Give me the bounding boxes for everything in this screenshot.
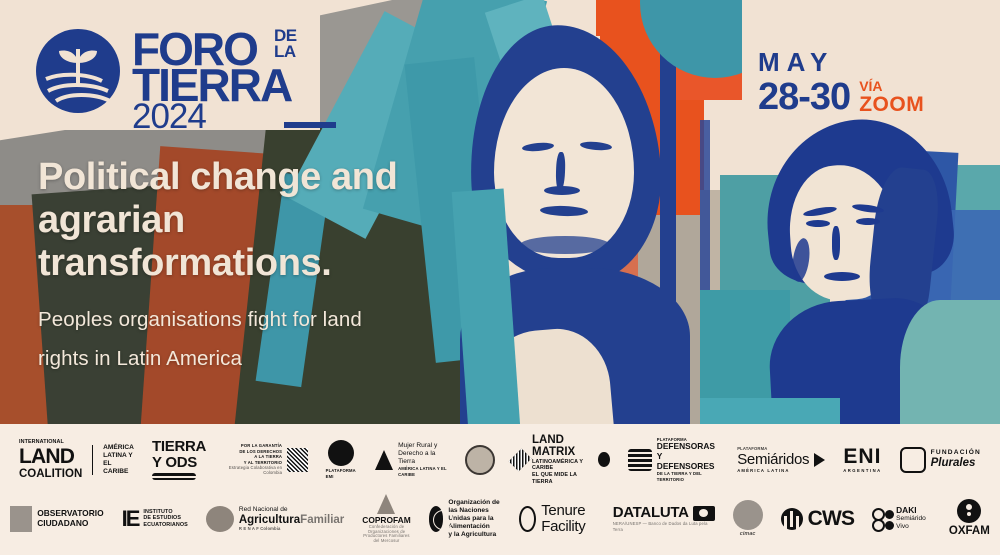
- brasil-flag-icon: [693, 506, 715, 521]
- eni-line-2: ARGENTINA: [843, 468, 881, 473]
- event-month: MAY: [758, 48, 988, 76]
- poster-subheadline: Peoples organisations fight for land rig…: [38, 300, 468, 378]
- event-poster: FORO DE LA TIERRA 2024 MAY 28-30 VÍA ZOO…: [0, 0, 1000, 555]
- mujer-rural-line-2: Derecho a la Tierra: [398, 450, 447, 466]
- network-dot-icon: [598, 452, 610, 467]
- subheadline-line-2: rights in Latin America: [38, 339, 468, 378]
- plataforma-emi-label: PLATAFORMA EMI: [326, 468, 357, 479]
- ilc-line-2: LAND: [19, 446, 82, 468]
- iee-line-1: INSTITUTO: [143, 509, 187, 516]
- logo-instituto-estudios-ecuatorianos[interactable]: IE INSTITUTO DE ESTUDIOS ECUATORIANOS: [113, 493, 197, 545]
- event-date-block: MAY 28-30 VÍA ZOOM: [758, 48, 988, 116]
- defensoras-line-4: DE LA TIERRA Y DEL TERRITORIO: [657, 471, 719, 482]
- logo-land-matrix[interactable]: LAND MATRIX LATINOAMÉRICA Y CARIBE EL QU…: [504, 434, 619, 486]
- logo-cws[interactable]: CWS: [772, 493, 864, 545]
- logo-renaf[interactable]: Red Nacional de AgriculturaFamiliar R E …: [197, 493, 353, 545]
- portrait-right-mouth: [824, 272, 860, 281]
- family-figures-icon: [206, 506, 234, 532]
- iee-line-2: DE ESTUDIOS: [143, 515, 187, 522]
- land-matrix-line-2: LATINOAMÉRICA Y CARIBE: [532, 459, 593, 472]
- partner-logo-row-2: OBSERVATORIO CIUDADANO IE INSTITUTO DE E…: [10, 489, 990, 548]
- renaf-agricultura: Agricultura: [239, 514, 300, 526]
- tenure-facility-label: Tenure Facility: [541, 503, 595, 535]
- globe-circle-icon: [328, 440, 354, 466]
- mask-glyph-icon: [10, 506, 32, 532]
- fao-line-2: Unidas para la Alimentación: [448, 515, 501, 531]
- logo-plataforma-emi[interactable]: PLATAFORMA EMI: [317, 434, 366, 486]
- fao-line-3: y la Agricultura: [448, 531, 501, 539]
- observatorio-line-2: CIUDADANO: [37, 519, 103, 529]
- fao-line-1: Organización de las Naciones: [448, 499, 501, 515]
- defensoras-line-2: DEFENSORAS: [657, 442, 719, 452]
- leaf-icon: [377, 494, 395, 514]
- figure-icon: [375, 450, 393, 470]
- event-via-label: VÍA: [859, 79, 924, 94]
- cimac-seal-icon: [733, 500, 763, 530]
- logo-oxfam[interactable]: OXFAM: [940, 493, 999, 545]
- logo-mujer-rural[interactable]: Mujer Rural y Derecho a la Tierra AMÉRIC…: [366, 434, 456, 486]
- circular-seal-icon: [465, 445, 495, 475]
- tierra-ods-line-2: Y ODS: [152, 455, 197, 471]
- subheadline-line-1: Peoples organisations fight for land: [38, 300, 468, 339]
- logo-daki[interactable]: DAKI Semiárido Vivo: [863, 493, 940, 545]
- coprofam-line-2: Confederación de Organizaciones de Produ…: [362, 525, 410, 543]
- mujer-rural-line-3: AMÉRICA LATINA Y EL CARIBE: [398, 466, 447, 477]
- logo-por-la-garantia[interactable]: POR LA GARANTÍA DE LOS DERECHOS A LA TIE…: [215, 434, 317, 486]
- daki-rings-icon: [872, 508, 891, 530]
- logo-plataforma-defensoras[interactable]: PLATAFORMA DEFENSORAS Y DEFENSORES DE LA…: [619, 434, 728, 486]
- plurales-line-1: FUNDACIÓN: [931, 449, 981, 457]
- renaf-line-2: AgriculturaFamiliar: [239, 514, 344, 527]
- logo-international-land-coalition[interactable]: INTERNATIONAL LAND COALITION AMÉRICA LAT…: [10, 434, 143, 486]
- bird-arrow-icon: [814, 453, 825, 467]
- semiaridos-line-2: Semiáridos: [737, 452, 809, 468]
- poster-headline: Political change and agrarian transforma…: [38, 156, 468, 285]
- event-platform-name: ZOOM: [859, 94, 924, 116]
- partner-logo-strip: INTERNATIONAL LAND COALITION AMÉRICA LAT…: [0, 424, 1000, 555]
- collage-orange-panel: [596, 0, 610, 36]
- cross-circle-icon: [781, 508, 803, 530]
- seedling-in-circle-icon: [36, 29, 120, 113]
- collage-navy-bar: [660, 30, 676, 330]
- hatched-square-icon: [287, 448, 308, 472]
- defensoras-line-3: Y DEFENSORES: [657, 452, 719, 471]
- mujer-rural-line-1: Mujer Rural y: [398, 442, 447, 450]
- cimac-label: cimac: [740, 531, 756, 538]
- logo-tierra-y-ods[interactable]: TIERRA Y ODS: [143, 434, 215, 486]
- daki-line-2: Semiárido Vivo: [896, 515, 931, 531]
- oxfam-label: OXFAM: [949, 525, 990, 538]
- cws-label: CWS: [808, 508, 855, 530]
- collage-teal-panel: [700, 398, 840, 424]
- wordmark-year: 2024: [132, 100, 206, 134]
- semiaridos-line-1: PLATAFORMA: [737, 446, 809, 451]
- fao-emblem-icon: [429, 506, 444, 532]
- renaf-line-3: R E N A F Colombia: [239, 526, 344, 531]
- ilc-region-1: AMÉRICA: [103, 444, 134, 452]
- cube-icon: [509, 448, 532, 471]
- wordmark-de-la: DE LA: [274, 28, 297, 60]
- divider: [92, 445, 93, 475]
- spiral-square-icon: [900, 447, 926, 473]
- portrait-right-nose: [832, 226, 840, 260]
- portrait-right-eye: [856, 218, 880, 225]
- event-days: 28-30: [758, 78, 850, 116]
- tierra-ods-line-1: TIERRA: [152, 439, 206, 455]
- logo-observatorio-ciudadano[interactable]: OBSERVATORIO CIUDADANO: [1, 493, 112, 545]
- foro-de-la-tierra-logo: FORO DE LA TIERRA 2024: [36, 22, 316, 127]
- renaf-familiar: Familiar: [300, 514, 344, 526]
- land-matrix-line-3: EL QUE MIDE LA TIERRA: [532, 472, 593, 485]
- oxfam-person-icon: [957, 499, 981, 523]
- event-platform: VÍA ZOOM: [859, 79, 924, 116]
- ilc-region-2: LATINA Y: [103, 452, 134, 460]
- daki-line-1: DAKI: [896, 506, 931, 516]
- ilc-region-3: EL CARIBE: [103, 460, 134, 476]
- logo-cimac[interactable]: cimac: [724, 493, 772, 545]
- plurales-line-2: Plurales: [931, 457, 981, 470]
- logo-fundacion-plurales[interactable]: FUNDACIÓN Plurales: [891, 434, 990, 486]
- land-matrix-line-1: LAND MATRIX: [532, 434, 593, 459]
- wordmark-underline: [284, 122, 336, 128]
- tenure-globe-icon: [519, 506, 536, 532]
- eni-line-1: ENI: [843, 446, 881, 468]
- renaf-line-1: Red Nacional de: [239, 506, 344, 514]
- logo-tenure-facility[interactable]: Tenure Facility: [510, 493, 603, 545]
- garantia-line-5: Estrategia Colaborativa en Colombia: [224, 465, 282, 476]
- logo-seal-emblem[interactable]: [456, 434, 504, 486]
- portrait-right-eye: [806, 220, 830, 227]
- dataluta-label: DATALUTA: [613, 505, 689, 521]
- foro-wordmark: FORO DE LA TIERRA 2024: [132, 22, 342, 127]
- partner-logo-row-1: INTERNATIONAL LAND COALITION AMÉRICA LAT…: [10, 430, 990, 489]
- logo-dataluta[interactable]: DATALUTA NERA/UNESP — Banco de Dados da …: [604, 493, 724, 545]
- portrait-right-arm: [900, 300, 1000, 424]
- ie-monogram-icon: IE: [122, 508, 139, 530]
- ilc-line-3: COALITION: [19, 468, 82, 481]
- portrait-left-nose: [544, 186, 580, 195]
- logo-coprofam[interactable]: COPROFAM Confederación de Organizaciones…: [353, 493, 419, 545]
- semiaridos-line-3: AMÉRICA LATINA: [737, 468, 809, 473]
- stripes-icon: [628, 449, 652, 471]
- logo-eni-argentina[interactable]: ENI ARGENTINA: [834, 434, 890, 486]
- wave-lines-icon: [152, 473, 196, 480]
- logo-semiaridos[interactable]: PLATAFORMA Semiáridos AMÉRICA LATINA: [728, 434, 834, 486]
- iee-line-3: ECUATORIANOS: [143, 522, 187, 529]
- logo-fao[interactable]: Organización de las Naciones Unidas para…: [420, 493, 511, 545]
- dataluta-subtitle: NERA/UNESP — Banco de Dados da Luta pela…: [613, 521, 715, 532]
- portrait-left-chin: [520, 236, 610, 254]
